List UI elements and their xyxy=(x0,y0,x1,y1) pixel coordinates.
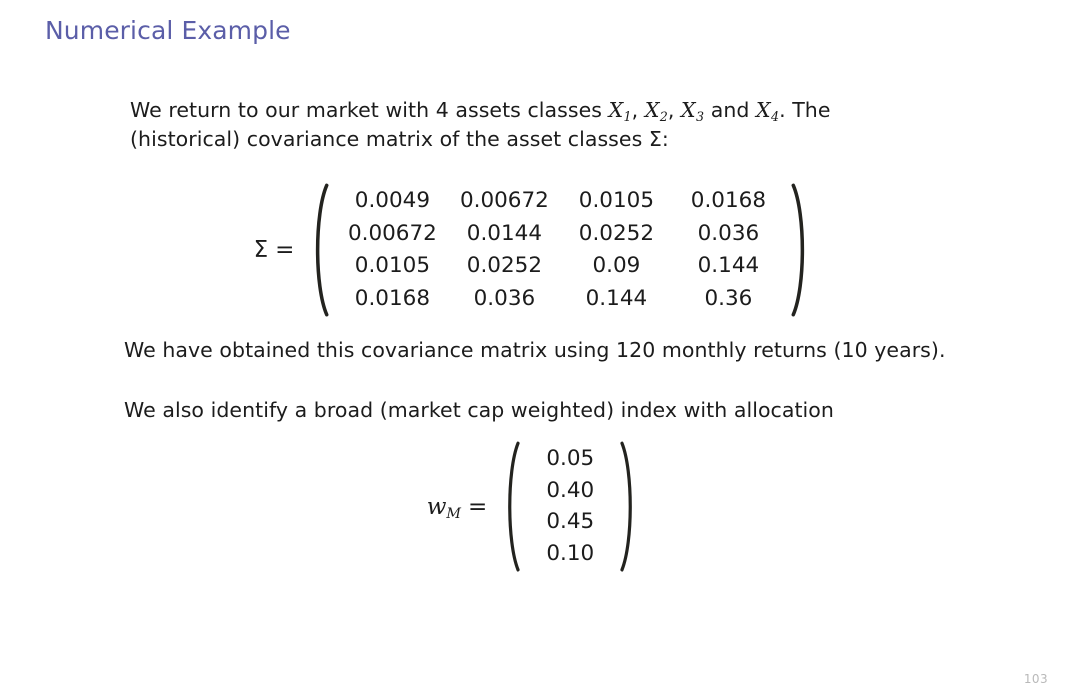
intro-sep2: , xyxy=(668,98,681,122)
covariance-matrix-grid: 0.0049 0.00672 0.0105 0.0168 0.00672 0.0… xyxy=(330,182,790,318)
page-number: 103 xyxy=(1024,672,1048,686)
vector-cell: 0.10 xyxy=(527,539,613,570)
math-variable-x2: X2 xyxy=(645,98,668,122)
x2-subscript: 2 xyxy=(659,109,667,124)
matrix-cell: 0.0049 xyxy=(336,186,448,217)
x4-subscript: 4 xyxy=(771,109,779,124)
weight-vector-grid: 0.05 0.40 0.45 0.10 xyxy=(521,440,619,573)
x4-base: X xyxy=(756,98,771,122)
matrix-cell: 0.0168 xyxy=(672,186,784,217)
x3-subscript: 3 xyxy=(696,109,704,124)
weights-lhs: wM = xyxy=(427,494,488,520)
covariance-matrix: 0.0049 0.00672 0.0105 0.0168 0.00672 0.0… xyxy=(308,182,812,318)
matrix-cell: 0.09 xyxy=(560,251,672,282)
matrix-cell: 0.00672 xyxy=(336,219,448,250)
covariance-matrix-equation: Σ = 0.0049 0.00672 0.0105 0.0168 0.00672… xyxy=(0,182,1066,318)
weight-vector-equation: wM = 0.05 0.40 0.45 0.10 xyxy=(0,440,1066,573)
matrix-cell: 0.0105 xyxy=(336,251,448,282)
equals-sign: = xyxy=(275,237,294,263)
x2-base: X xyxy=(645,98,660,122)
matrix-cell: 0.00672 xyxy=(448,186,560,217)
math-variable-x1: X1 xyxy=(609,98,632,122)
matrix-cell: 0.0105 xyxy=(560,186,672,217)
math-variable-x4: X4 xyxy=(756,98,779,122)
w-subscript: M xyxy=(446,506,461,522)
intro-text-part1: We return to our market with 4 assets cl… xyxy=(130,98,609,122)
left-paren-icon xyxy=(501,440,521,573)
right-paren-icon xyxy=(619,440,639,573)
intro-sep3: and xyxy=(704,98,756,122)
x1-subscript: 1 xyxy=(623,109,631,124)
left-paren-icon xyxy=(308,182,330,318)
math-variable-x3: X3 xyxy=(681,98,704,122)
vector-cell: 0.05 xyxy=(527,444,613,475)
slide: Numerical Example We return to our marke… xyxy=(0,0,1066,683)
matrix-cell: 0.036 xyxy=(448,284,560,315)
sigma-symbol: Σ xyxy=(254,237,269,263)
paragraph-obtained: We have obtained this covariance matrix … xyxy=(124,336,1024,365)
paragraph-index: We also identify a broad (market cap wei… xyxy=(124,396,1024,425)
right-paren-icon xyxy=(790,182,812,318)
intro-text-part3: : xyxy=(662,127,669,151)
weight-vector: 0.05 0.40 0.45 0.10 xyxy=(501,440,639,573)
equals-sign: = xyxy=(468,494,487,520)
w-symbol: wM xyxy=(427,494,461,520)
matrix-cell: 0.0168 xyxy=(336,284,448,315)
matrix-cell: 0.0252 xyxy=(560,219,672,250)
matrix-cell: 0.0144 xyxy=(448,219,560,250)
sigma-symbol-inline: Σ xyxy=(649,127,662,151)
covariance-lhs: Σ = xyxy=(254,237,295,263)
x1-base: X xyxy=(609,98,624,122)
intro-sep1: , xyxy=(632,98,645,122)
matrix-cell: 0.36 xyxy=(672,284,784,315)
vector-cell: 0.45 xyxy=(527,507,613,538)
x3-base: X xyxy=(681,98,696,122)
page-title: Numerical Example xyxy=(45,16,291,45)
paragraph-intro: We return to our market with 4 assets cl… xyxy=(130,96,920,154)
w-base: w xyxy=(427,494,447,520)
matrix-cell: 0.144 xyxy=(672,251,784,282)
matrix-cell: 0.036 xyxy=(672,219,784,250)
matrix-cell: 0.144 xyxy=(560,284,672,315)
vector-cell: 0.40 xyxy=(527,476,613,507)
matrix-cell: 0.0252 xyxy=(448,251,560,282)
